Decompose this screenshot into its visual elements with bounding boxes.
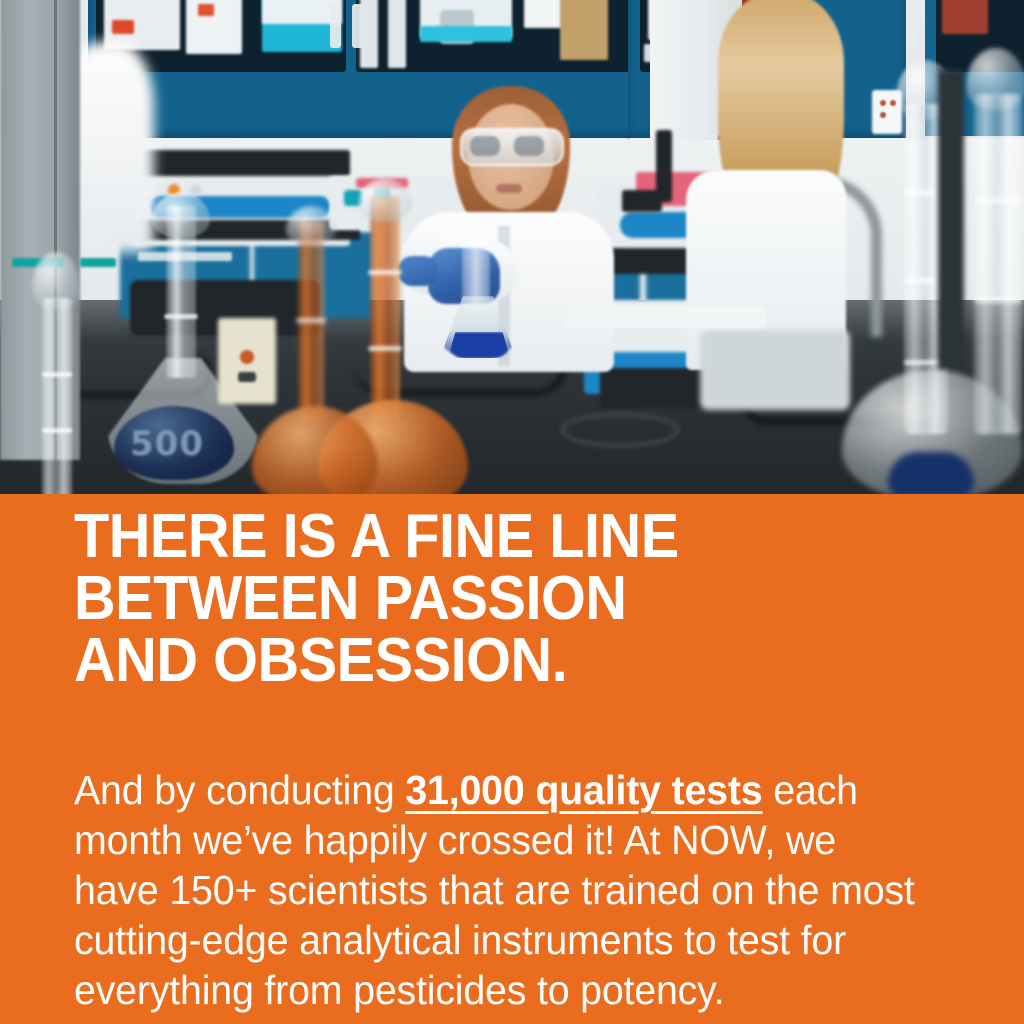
- shelf-item: [198, 4, 214, 16]
- socket-indicator: [240, 350, 254, 364]
- shelf-item: [388, 0, 406, 68]
- graduation-mark: [974, 298, 1022, 303]
- body-pre: And by conducting: [74, 767, 405, 813]
- flask-volume-label: 500: [130, 424, 204, 464]
- socket-indicator: [880, 112, 886, 118]
- lab-photo: 500: [0, 0, 1024, 494]
- orange-text-panel: THERE IS A FINE LINE BETWEEN PASSION AND…: [0, 494, 1024, 1024]
- socket-port: [238, 372, 256, 382]
- graduation-mark: [974, 198, 1022, 203]
- graduation-mark: [164, 314, 198, 319]
- wall-socket: [872, 90, 902, 134]
- flask-bulb: [252, 406, 378, 494]
- scientist-lower-coat: [700, 330, 850, 410]
- scientist-mouth: [496, 184, 522, 193]
- headline-line-2: BETWEEN PASSION: [74, 568, 911, 630]
- lab-instrument-top: [130, 150, 350, 176]
- bench-tray: [566, 306, 766, 328]
- cabinet-handle[interactable]: [906, 4, 917, 48]
- body-emphasis: 31,000 quality tests: [405, 767, 762, 813]
- socket-indicator: [880, 100, 886, 106]
- graduation-mark: [42, 428, 72, 433]
- promo-card: 500: [0, 0, 1024, 1024]
- goggle-lens: [470, 136, 500, 156]
- goggle-lens: [514, 136, 544, 156]
- headline-line-3: AND OBSESSION.: [74, 630, 911, 692]
- shelf-item: [942, 0, 988, 34]
- shelf-item: [420, 26, 512, 42]
- shelf-item: [186, 0, 242, 54]
- cylinder-body: [42, 298, 72, 494]
- graduation-mark: [42, 372, 72, 377]
- body-copy: And by conducting 31,000 quality tests e…: [74, 765, 919, 1015]
- headline-line-1: THERE IS A FINE LINE: [74, 506, 911, 568]
- cabinet-handle[interactable]: [352, 4, 363, 48]
- instrument-detector: [622, 190, 662, 212]
- shelf-item: [112, 20, 134, 34]
- instrument-stand: [938, 70, 964, 370]
- graduation-mark: [296, 318, 326, 323]
- socket-indicator: [890, 100, 896, 106]
- headline: THERE IS A FINE LINE BETWEEN PASSION AND…: [74, 506, 911, 692]
- cabinet-handle[interactable]: [330, 4, 341, 48]
- flask-liquid: [888, 452, 974, 494]
- glass-dish: [560, 412, 680, 448]
- shelf-item: [560, 0, 608, 60]
